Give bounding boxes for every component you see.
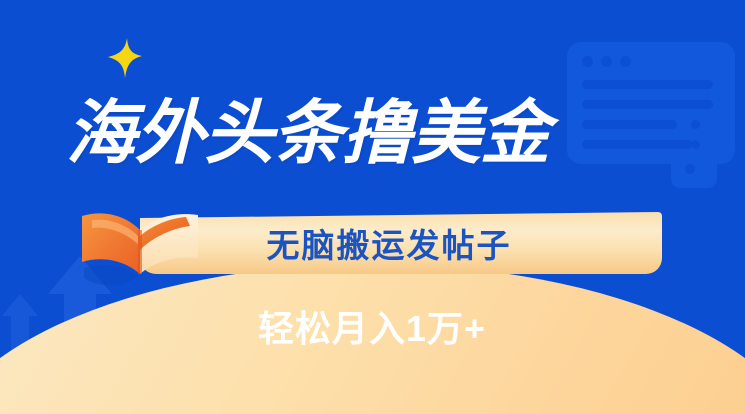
browser-panel-dot-icon (685, 164, 695, 174)
browser-sub-panel (671, 150, 717, 188)
open-book-icon (78, 206, 202, 292)
ribbon-label: 无脑搬运发帖子 (140, 219, 638, 267)
browser-content-bar (582, 80, 713, 89)
browser-dot-icon (620, 56, 631, 67)
subtitle-ribbon: 无脑搬运发帖子 (140, 212, 662, 274)
browser-side-dot-icon (691, 140, 700, 149)
browser-dot-icon (582, 56, 593, 67)
browser-content-bar (582, 100, 713, 109)
browser-dot-icon (601, 56, 612, 67)
browser-content-bar (582, 140, 692, 149)
browser-window-decoration-icon (567, 42, 735, 164)
browser-side-dot-icon (691, 120, 700, 129)
sparkle-star-icon (108, 38, 142, 78)
browser-content-bar (582, 120, 677, 129)
tagline: 轻松月入1万+ (258, 300, 486, 352)
promo-poster: 海外头条撸美金 无脑搬运发帖子 (0, 0, 745, 414)
page-title: 海外头条撸美金 (66, 98, 549, 168)
